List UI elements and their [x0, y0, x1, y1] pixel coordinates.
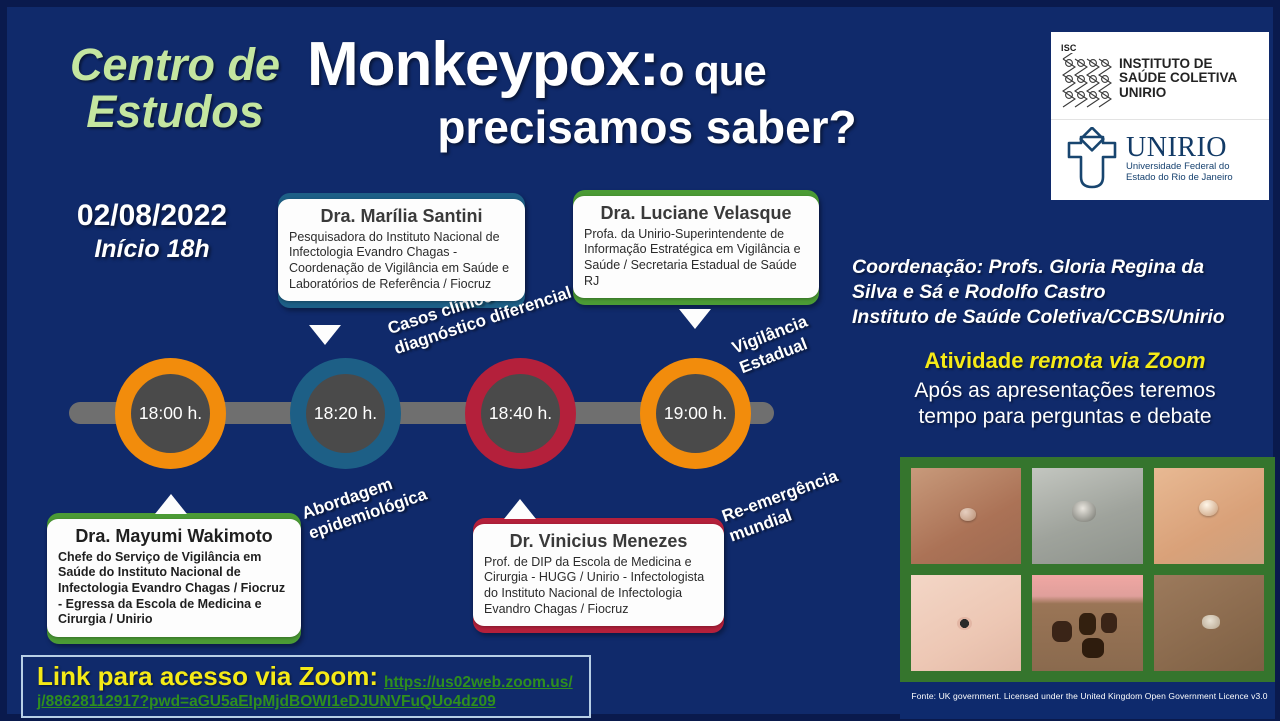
zoom-url-line-2[interactable]: j/88628112917?pwd=aGU5aEIpMjdBOWI1eDJUNV… [37, 693, 581, 711]
coordination-text: Coordenação: Profs. Gloria Regina da Sil… [852, 255, 1272, 330]
topic-label-abordagem-epidemiologica: Abordagem epidemiológica [299, 464, 430, 544]
unirio-logo: UNIRIO Universidade Federal do Estado do… [1051, 120, 1269, 200]
isc-wordmark: INSTITUTO DE SAÚDE COLETIVA UNIRIO [1119, 57, 1237, 101]
photo-source-caption: Fonte: UK government. Licensed under the… [900, 682, 1275, 701]
isc-logo: ISC [1051, 32, 1269, 120]
title-keyword-suffix: o que [659, 47, 766, 94]
lesion-photo [911, 468, 1021, 564]
isc-abbr: ISC [1061, 43, 1117, 53]
event-date: 02/08/2022 [37, 199, 267, 234]
speaker-description: Prof. de DIP da Escola de Medicina e Cir… [484, 555, 713, 618]
speaker-card-menezes: Dr. Vinicius Menezes Prof. de DIP da Esc… [473, 518, 724, 633]
speaker-card-body: Dra. Luciane Velasque Profa. da Unirio-S… [573, 196, 819, 298]
speaker-description: Chefe do Serviço de Vigilância em Saúde … [58, 550, 290, 628]
speaker-card-pointer [679, 309, 711, 329]
unirio-mark-icon [1063, 127, 1121, 191]
remote-body-line-1: Após as apresentações teremos [865, 378, 1265, 404]
speaker-card-pointer [155, 494, 187, 514]
unirio-name: UNIRIO [1126, 134, 1233, 162]
speaker-description: Profa. da Unirio-Superintendente de Info… [584, 227, 808, 290]
isc-text-line-1: INSTITUTO DE [1119, 57, 1237, 72]
zoom-link-label: Link para acesso via Zoom: [37, 661, 378, 692]
remote-title-italic: remota via Zoom [1030, 348, 1206, 373]
remote-activity-block: Atividade remota via Zoom Após as aprese… [865, 348, 1265, 429]
organizer-line-2: Estudos [35, 88, 315, 135]
zoom-link-panel[interactable]: Link para acesso via Zoom:https://us02we… [21, 655, 591, 718]
page-title: Monkeypox:o que precisamos saber? [307, 33, 1027, 153]
speaker-name: Dra. Marília Santini [289, 206, 514, 227]
coordination-line-3: Instituto de Saúde Coletiva/CCBS/Unirio [852, 305, 1272, 330]
remote-body-line-2: tempo para perguntas e debate [865, 404, 1265, 430]
coordination-line-2: Silva e Sá e Rodolfo Castro [852, 280, 1272, 305]
speaker-card-velasque: Dra. Luciane Velasque Profa. da Unirio-S… [573, 190, 819, 305]
speaker-card-pointer [504, 499, 536, 519]
timeline-node-3[interactable]: 18:40 h. [465, 358, 576, 469]
speaker-card-body: Dra. Marília Santini Pesquisadora do Ins… [278, 199, 525, 301]
remote-activity-title: Atividade remota via Zoom [865, 348, 1265, 374]
coordination-line-1: Coordenação: Profs. Gloria Regina da [852, 255, 1272, 280]
title-line-1: Monkeypox:o que [307, 33, 1027, 96]
lesion-photo [1032, 575, 1142, 671]
speaker-card-wakimoto: Dra. Mayumi Wakimoto Chefe do Serviço de… [47, 513, 301, 644]
speaker-card-body: Dra. Mayumi Wakimoto Chefe do Serviço de… [47, 519, 301, 637]
speaker-card-santini: Dra. Marília Santini Pesquisadora do Ins… [278, 193, 525, 308]
unirio-wordmark: UNIRIO Universidade Federal do Estado do… [1126, 134, 1233, 183]
timeline-node-1[interactable]: 18:00 h. [115, 358, 226, 469]
unirio-sub-2: Estado do Rio de Janeiro [1126, 173, 1233, 184]
speaker-name: Dr. Vinicius Menezes [484, 531, 713, 552]
title-keyword: Monkeypox: [307, 30, 659, 99]
poster-root: Centro de Estudos Monkeypox:o que precis… [0, 0, 1280, 721]
lesion-photo-panel: Fonte: UK government. Licensed under the… [900, 457, 1275, 719]
timeline-node-1-time: 18:00 h. [131, 374, 210, 453]
isc-mesh-icon: ISC [1061, 43, 1117, 114]
zoom-url-line-1[interactable]: https://us02web.zoom.us/ [384, 674, 573, 692]
lesion-photo [911, 575, 1021, 671]
timeline-node-4-time: 19:00 h. [656, 374, 735, 453]
remote-title-plain: Atividade [924, 348, 1029, 373]
topic-label-re-emergencia-mundial: Re-emergência mundial [719, 465, 848, 547]
organizer-title: Centro de Estudos [35, 41, 315, 136]
timeline-node-3-time: 18:40 h. [481, 374, 560, 453]
isc-text-line-2: SAÚDE COLETIVA [1119, 71, 1237, 86]
speaker-name: Dra. Mayumi Wakimoto [58, 526, 290, 547]
isc-text-line-3: UNIRIO [1119, 86, 1237, 101]
topic-label-vigilancia-estadual: Vigilância Estadual [729, 311, 818, 379]
photo-grid [900, 457, 1275, 682]
lesion-photo [1154, 468, 1264, 564]
timeline-node-4[interactable]: 19:00 h. [640, 358, 751, 469]
title-line-2: precisamos saber? [307, 102, 1027, 153]
timeline-node-2-time: 18:20 h. [306, 374, 385, 453]
timeline-node-2[interactable]: 18:20 h. [290, 358, 401, 469]
speaker-card-body: Dr. Vinicius Menezes Prof. de DIP da Esc… [473, 524, 724, 626]
lesion-photo [1032, 468, 1142, 564]
speaker-description: Pesquisadora do Instituto Nacional de In… [289, 230, 514, 293]
organizer-line-1: Centro de [35, 41, 315, 88]
event-start-time: Início 18h [37, 234, 267, 264]
speaker-name: Dra. Luciane Velasque [584, 203, 808, 224]
event-date-block: 02/08/2022 Início 18h [37, 199, 267, 264]
remote-activity-body: Após as apresentações teremos tempo para… [865, 378, 1265, 429]
lesion-photo [1154, 575, 1264, 671]
speaker-card-pointer [309, 325, 341, 345]
logo-panel: ISC [1051, 32, 1269, 200]
